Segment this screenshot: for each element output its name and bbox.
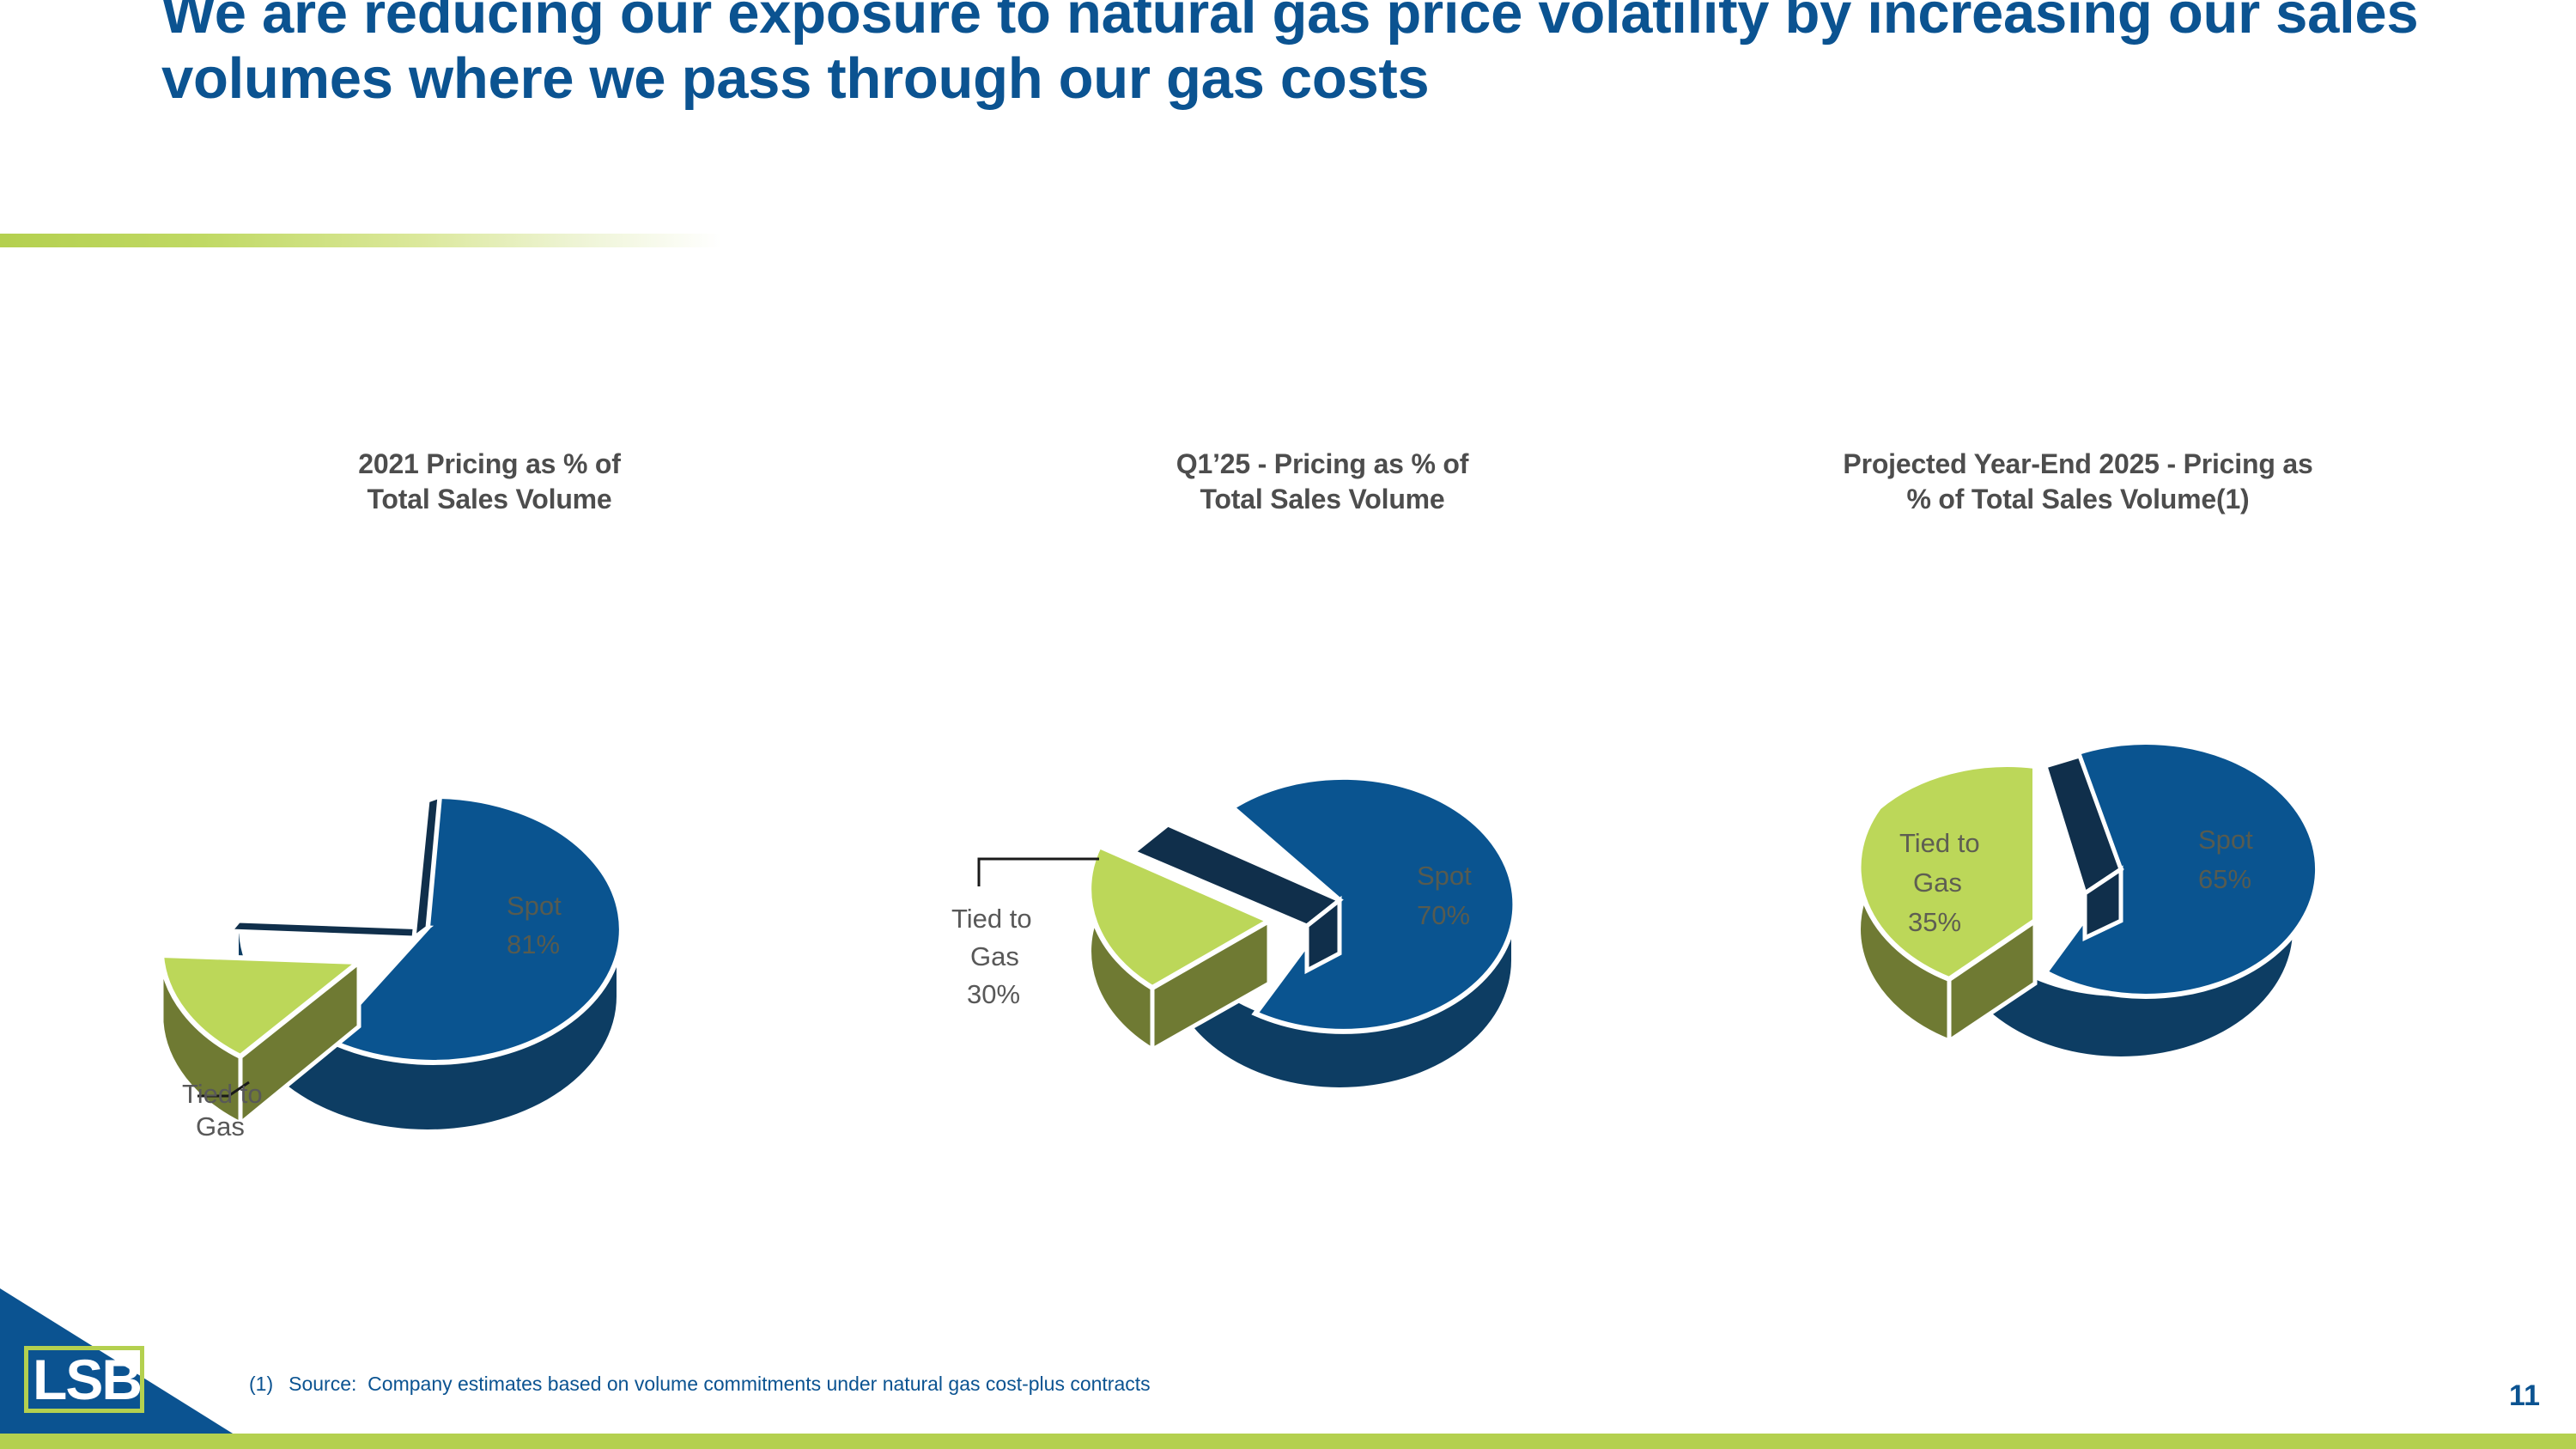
chart-title-ye2025: Projected Year-End 2025 - Pricing as % o… <box>1692 447 2464 517</box>
pie-ye2025: Spot 65% Tied to Gas 35% <box>1692 550 2464 1151</box>
pie-2021-svg: Spot 81% Tied to Gas <box>103 550 876 1151</box>
lsb-logo: LSB <box>33 1349 141 1409</box>
explode-gap-shadow <box>230 921 428 938</box>
pie-q125: Spot 70% Tied to Gas 30% <box>936 550 1709 1151</box>
tied-leader-line <box>979 859 1099 886</box>
tied-label-line2: Gas <box>970 941 1019 971</box>
footnote: (1)Source: Company estimates based on vo… <box>249 1373 1151 1396</box>
spot-label-line1: Spot <box>507 891 562 921</box>
chart-title-q125: Q1’25 - Pricing as % of Total Sales Volu… <box>936 447 1709 517</box>
chart-ye2025: Projected Year-End 2025 - Pricing as % o… <box>1692 447 2464 1168</box>
spot-label-line2: 65% <box>2198 864 2251 894</box>
tied-label-line3: 30% <box>967 979 1020 1009</box>
header-accent-rule <box>0 234 721 247</box>
pie-q125-svg: Spot 70% Tied to Gas 30% <box>936 550 1709 1151</box>
tied-label-line2: Gas <box>1913 868 1962 898</box>
tied-label-line1: Tied to <box>182 1079 263 1109</box>
title-block: We are reducing our exposure to natural … <box>161 0 2480 111</box>
page-number: 11 <box>2509 1379 2540 1413</box>
tied-label-line1: Tied to <box>1899 828 1980 858</box>
pie-ye2025-svg: Spot 65% Tied to Gas 35% <box>1692 550 2464 1151</box>
charts-container: 2021 Pricing as % of Total Sales Volume … <box>0 447 2576 1168</box>
chart-2021: 2021 Pricing as % of Total Sales Volume … <box>103 447 876 1168</box>
chart-title-2021: 2021 Pricing as % of Total Sales Volume <box>103 447 876 517</box>
footnote-text: Source: Company estimates based on volum… <box>289 1373 1151 1395</box>
footnote-marker: (1) <box>249 1373 273 1395</box>
spot-label-line2: 81% <box>507 929 560 959</box>
chart-q125: Q1’25 - Pricing as % of Total Sales Volu… <box>936 447 1709 1168</box>
spot-label-line1: Spot <box>1417 861 1472 891</box>
spot-label-line1: Spot <box>2198 825 2253 855</box>
tied-label-line3: 35% <box>1908 907 1961 937</box>
tied-label-line1: Tied to <box>951 904 1032 934</box>
footer-accent-bar <box>0 1434 2576 1449</box>
tied-label-line2: Gas <box>196 1111 245 1142</box>
spot-label-line2: 70% <box>1417 900 1470 930</box>
pie-2021: Spot 81% Tied to Gas <box>103 550 876 1151</box>
page-title: We are reducing our exposure to natural … <box>161 0 2480 111</box>
